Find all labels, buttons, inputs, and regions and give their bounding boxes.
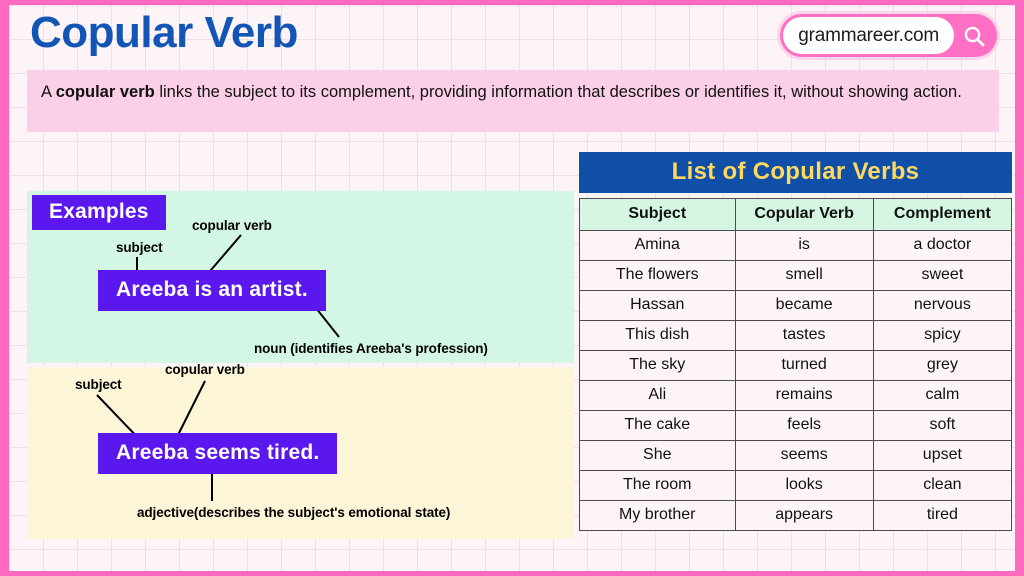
cell-copular-verb: remains (735, 381, 873, 411)
table-row: My brotherappearstired (580, 501, 1012, 531)
cell-complement: spicy (873, 321, 1011, 351)
verb-table: Subject Copular Verb Complement Aminaisa… (579, 198, 1012, 531)
cell-subject: Ali (580, 381, 736, 411)
verb-table-title: List of Copular Verbs (579, 152, 1012, 193)
cell-subject: She (580, 441, 736, 471)
cell-copular-verb: seems (735, 441, 873, 471)
infographic-page: Copular Verb grammareer.com A copular ve… (0, 0, 1024, 576)
cell-copular-verb: looks (735, 471, 873, 501)
definition-banner: A copular verb links the subject to its … (27, 70, 999, 132)
table-row: The skyturnedgrey (580, 351, 1012, 381)
cell-complement: sweet (873, 261, 1011, 291)
site-badge[interactable]: grammareer.com (780, 14, 997, 57)
example-sentence: Areeba seems tired. (98, 433, 337, 474)
cell-subject: Hassan (580, 291, 736, 321)
cell-subject: This dish (580, 321, 736, 351)
cell-complement: a doctor (873, 231, 1011, 261)
search-icon (954, 17, 994, 54)
definition-rest: links the subject to its complement, pro… (155, 83, 962, 101)
cell-complement: grey (873, 351, 1011, 381)
site-badge-label: grammareer.com (783, 17, 954, 54)
cell-complement: soft (873, 411, 1011, 441)
cell-copular-verb: tastes (735, 321, 873, 351)
verb-table-body: Aminaisa doctorThe flowerssmellsweetHass… (580, 231, 1012, 531)
cell-subject: The sky (580, 351, 736, 381)
cell-subject: The cake (580, 411, 736, 441)
column-header-subject: Subject (580, 199, 736, 231)
cell-complement: tired (873, 501, 1011, 531)
cell-complement: clean (873, 471, 1011, 501)
table-row: The flowerssmellsweet (580, 261, 1012, 291)
table-header-row: Subject Copular Verb Complement (580, 199, 1012, 231)
column-header-copular-verb: Copular Verb (735, 199, 873, 231)
page-title: Copular Verb (30, 8, 298, 58)
cell-complement: upset (873, 441, 1011, 471)
table-row: Hassanbecamenervous (580, 291, 1012, 321)
cell-complement: nervous (873, 291, 1011, 321)
cell-copular-verb: is (735, 231, 873, 261)
table-row: Aminaisa doctor (580, 231, 1012, 261)
table-row: Sheseemsupset (580, 441, 1012, 471)
example-card-artist: Examples subject copular verb noun (iden… (27, 191, 574, 363)
table-row: Aliremainscalm (580, 381, 1012, 411)
cell-complement: calm (873, 381, 1011, 411)
cell-subject: The room (580, 471, 736, 501)
example-card-tired: subject copular verb adjective(describes… (27, 367, 574, 539)
cell-subject: My brother (580, 501, 736, 531)
column-header-complement: Complement (873, 199, 1011, 231)
example-sentence: Areeba is an artist. (98, 270, 326, 311)
cell-subject: Amina (580, 231, 736, 261)
cell-copular-verb: appears (735, 501, 873, 531)
header: Copular Verb grammareer.com (9, 5, 1015, 67)
definition-lead: A (41, 83, 56, 101)
cell-copular-verb: turned (735, 351, 873, 381)
cell-subject: The flowers (580, 261, 736, 291)
table-row: This dishtastesspicy (580, 321, 1012, 351)
table-row: The roomlooksclean (580, 471, 1012, 501)
cell-copular-verb: feels (735, 411, 873, 441)
cell-copular-verb: smell (735, 261, 873, 291)
verb-table-panel: List of Copular Verbs Subject Copular Ve… (579, 152, 1012, 531)
definition-term: copular verb (56, 83, 155, 101)
cell-copular-verb: became (735, 291, 873, 321)
table-row: The cakefeelssoft (580, 411, 1012, 441)
